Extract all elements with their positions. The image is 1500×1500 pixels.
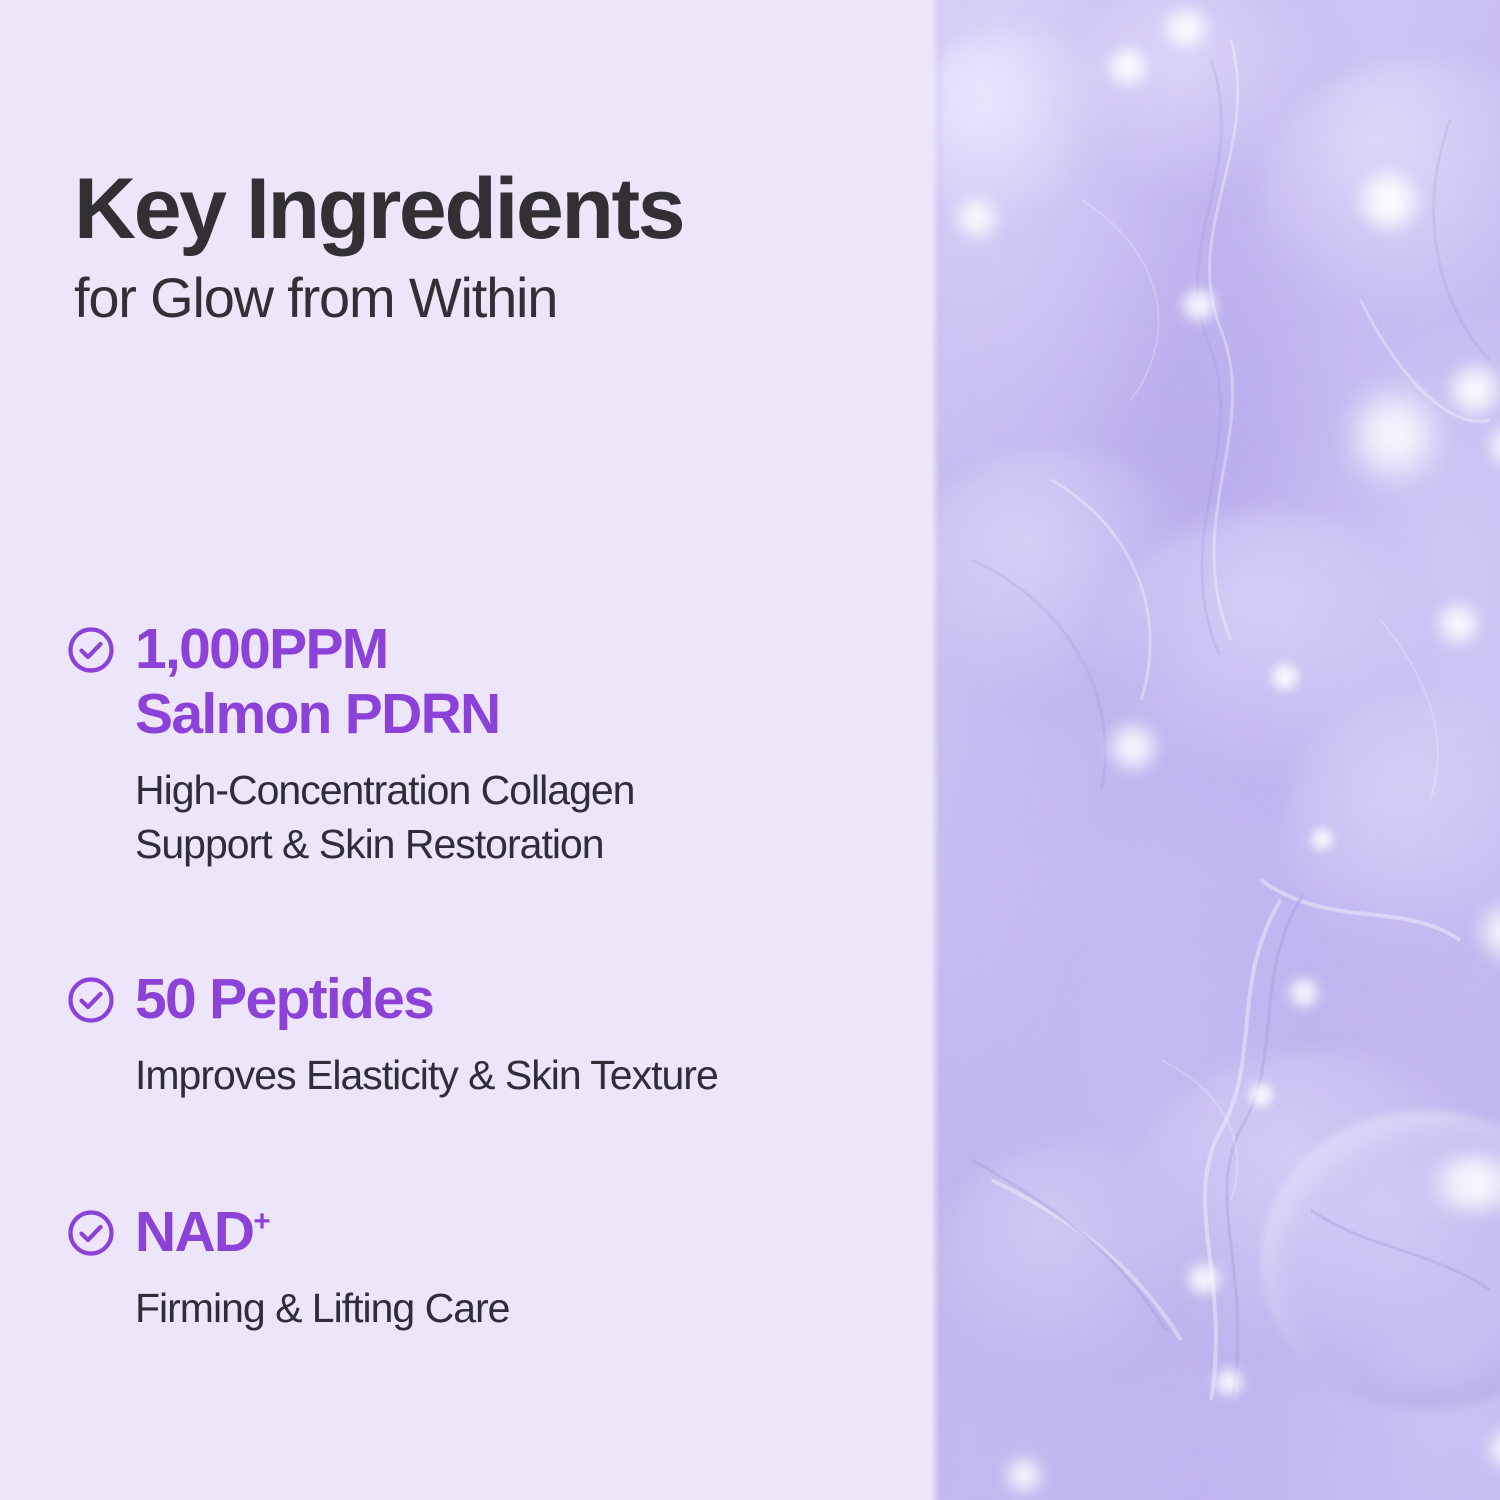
gel-texture-image xyxy=(932,0,1500,1500)
ingredient-item: NAD+ Firming & Lifting Care xyxy=(66,1200,906,1335)
header-block: Key Ingredients for Glow from Within xyxy=(74,166,683,326)
ingredient-title-text: NAD xyxy=(135,1200,253,1264)
ingredient-title: NAD+ xyxy=(135,1200,270,1265)
ingredient-item: 50 Peptides Improves Elasticity & Skin T… xyxy=(66,967,906,1102)
ingredient-title-superscript: + xyxy=(253,1205,270,1238)
ingredient-description-line-1: Firming & Lifting Care xyxy=(135,1285,509,1331)
ingredient-item: 1,000PPM Salmon PDRN High-Concentration … xyxy=(66,617,906,871)
ingredient-description-line-1: High-Concentration Collagen xyxy=(135,767,634,813)
key-ingredients-page: Key Ingredients for Glow from Within 1,0… xyxy=(0,0,1500,1500)
ingredient-description-line-2: Support & Skin Restoration xyxy=(135,821,604,867)
ingredient-heading-row: 1,000PPM Salmon PDRN xyxy=(66,617,906,747)
page-title: Key Ingredients xyxy=(74,166,683,252)
ingredient-title-line-1: 1,000PPM xyxy=(135,617,388,681)
ingredient-title: 1,000PPM Salmon PDRN xyxy=(135,617,500,747)
ingredient-description: High-Concentration Collagen Support & Sk… xyxy=(135,763,906,871)
ingredient-title-text: 50 Peptides xyxy=(135,967,433,1031)
check-circle-icon xyxy=(66,1208,116,1258)
ingredient-title: 50 Peptides xyxy=(135,967,433,1032)
gel-left-edge-fade xyxy=(932,0,946,1500)
check-circle-icon xyxy=(66,975,116,1025)
ingredient-title-line-2: Salmon PDRN xyxy=(135,682,500,746)
ingredient-heading-row: NAD+ xyxy=(66,1200,906,1265)
ingredient-description: Improves Elasticity & Skin Texture xyxy=(135,1048,906,1102)
page-subtitle: for Glow from Within xyxy=(74,270,683,326)
ingredient-description: Firming & Lifting Care xyxy=(135,1281,906,1335)
content-panel: Key Ingredients for Glow from Within 1,0… xyxy=(0,0,932,1500)
check-circle-icon xyxy=(66,625,116,675)
ingredient-list: 1,000PPM Salmon PDRN High-Concentration … xyxy=(66,617,906,1335)
ingredient-heading-row: 50 Peptides xyxy=(66,967,906,1032)
ingredient-description-line-1: Improves Elasticity & Skin Texture xyxy=(135,1052,718,1098)
gel-sheen-layer xyxy=(932,0,1500,1500)
